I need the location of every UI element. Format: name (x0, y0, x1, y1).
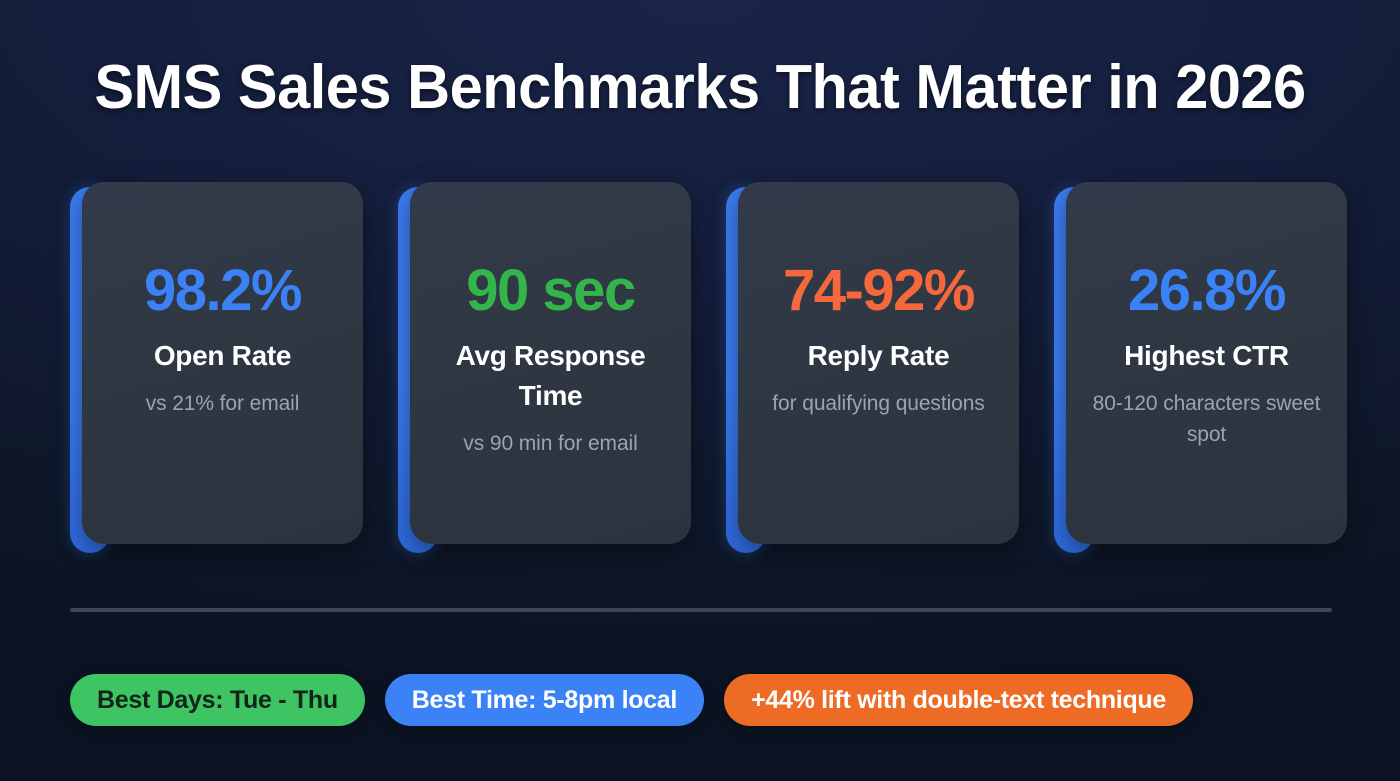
card-body: 98.2% Open Rate vs 21% for email (82, 182, 363, 544)
card-body: 90 sec Avg Response Time vs 90 min for e… (410, 182, 691, 544)
card-value: 26.8% (1082, 260, 1331, 322)
card-body: 74-92% Reply Rate for qualifying questio… (738, 182, 1019, 544)
card-subtext: vs 90 min for email (426, 428, 675, 459)
card-label: Open Rate (98, 336, 347, 376)
highlight-pill: Best Time: 5-8pm local (385, 674, 704, 726)
card-label: Reply Rate (754, 336, 1003, 376)
card-subtext: vs 21% for email (98, 388, 347, 419)
stat-card: 26.8% Highest CTR 80-120 characters swee… (1054, 182, 1347, 548)
card-label: Highest CTR (1082, 336, 1331, 376)
card-label: Avg Response Time (426, 336, 675, 416)
stat-card: 90 sec Avg Response Time vs 90 min for e… (398, 182, 691, 548)
highlight-pill: Best Days: Tue - Thu (70, 674, 365, 726)
card-subtext: 80-120 characters sweet spot (1082, 388, 1331, 450)
stat-card: 74-92% Reply Rate for qualifying questio… (726, 182, 1019, 548)
stat-card: 98.2% Open Rate vs 21% for email (70, 182, 363, 548)
card-body: 26.8% Highest CTR 80-120 characters swee… (1066, 182, 1347, 544)
card-value: 74-92% (754, 260, 1003, 322)
section-divider (70, 608, 1332, 612)
highlight-pill: +44% lift with double-text technique (724, 674, 1193, 726)
card-value: 98.2% (98, 260, 347, 322)
stat-card-row: 98.2% Open Rate vs 21% for email 90 sec … (70, 182, 1332, 554)
card-subtext: for qualifying questions (754, 388, 1003, 419)
card-value: 90 sec (426, 260, 675, 322)
infographic-root: SMS Sales Benchmarks That Matter in 2026… (0, 0, 1400, 781)
page-title: SMS Sales Benchmarks That Matter in 2026 (28, 48, 1372, 128)
highlight-pill-row: Best Days: Tue - Thu Best Time: 5-8pm lo… (70, 674, 1332, 726)
